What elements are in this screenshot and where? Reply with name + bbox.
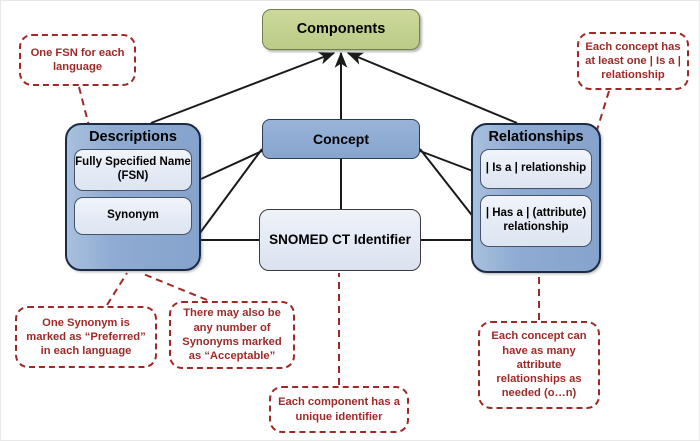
callout-unique-identifier: Each component has a unique identifier [269, 386, 409, 433]
callout-many-attribute-relationships-text: Each concept can have as many attribute … [485, 329, 593, 401]
edge-concept-to-fsn [201, 151, 262, 179]
callout-at-least-one-is-a: Each concept has at least one | Is a | r… [577, 32, 689, 90]
chip-synonym-label: Synonym [107, 209, 159, 223]
chip-fully-specified-name-label: Fully Specified Name (FSN) [75, 156, 191, 184]
leader-one-preferred-synonym [107, 273, 127, 305]
node-concept[interactable]: Concept [262, 119, 420, 159]
edge-descriptions-to-components [151, 53, 334, 123]
node-snomed-ct-identifier[interactable]: SNOMED CT Identifier [259, 209, 421, 271]
group-descriptions-title: Descriptions [67, 125, 199, 146]
callout-acceptable-synonyms-text: There may also be any number of Synonyms… [176, 306, 288, 363]
group-relationships-items: | Is a | relationship | Has a | (attribu… [473, 146, 599, 247]
chip-has-a-relationship[interactable]: | Has a | (attribute) relationship [480, 195, 592, 247]
leader-acceptable-synonyms [141, 273, 207, 300]
node-snomed-ct-identifier-label: SNOMED CT Identifier [269, 232, 411, 248]
group-relationships-title: Relationships [473, 125, 599, 146]
callout-one-preferred-synonym-text: One Synonym is marked as “Preferred” in … [22, 316, 150, 359]
chip-is-a-relationship[interactable]: | Is a | relationship [480, 149, 592, 189]
callout-one-fsn-per-language-text: One FSN for each language [26, 46, 129, 75]
edge-concept-to-is-a [420, 151, 478, 173]
callout-many-attribute-relationships: Each concept can have as many attribute … [478, 321, 600, 409]
group-relationships[interactable]: Relationships | Is a | relationship | Ha… [471, 123, 601, 273]
callout-unique-identifier-text: Each component has a unique identifier [276, 395, 402, 424]
group-descriptions[interactable]: Descriptions Fully Specified Name (FSN) … [65, 123, 201, 271]
node-components[interactable]: Components [262, 9, 420, 50]
edge-concept-to-synonym [197, 149, 262, 237]
group-descriptions-items: Fully Specified Name (FSN) Synonym [67, 146, 199, 235]
callout-at-least-one-is-a-text: Each concept has at least one | Is a | r… [584, 40, 682, 83]
chip-fully-specified-name[interactable]: Fully Specified Name (FSN) [74, 149, 192, 191]
callout-one-preferred-synonym: One Synonym is marked as “Preferred” in … [15, 306, 157, 368]
edge-concept-to-has-a [420, 149, 478, 223]
edge-relationships-to-components [348, 53, 517, 123]
callout-acceptable-synonyms: There may also be any number of Synonyms… [169, 301, 295, 369]
chip-synonym[interactable]: Synonym [74, 197, 192, 235]
node-components-label: Components [297, 21, 386, 38]
chip-is-a-relationship-label: | Is a | relationship [486, 162, 586, 176]
chip-has-a-relationship-label: | Has a | (attribute) relationship [481, 207, 591, 235]
callout-one-fsn-per-language: One FSN for each language [19, 34, 136, 86]
node-concept-label: Concept [313, 131, 369, 148]
diagram-canvas: Components Concept SNOMED CT Identifier … [0, 0, 700, 441]
